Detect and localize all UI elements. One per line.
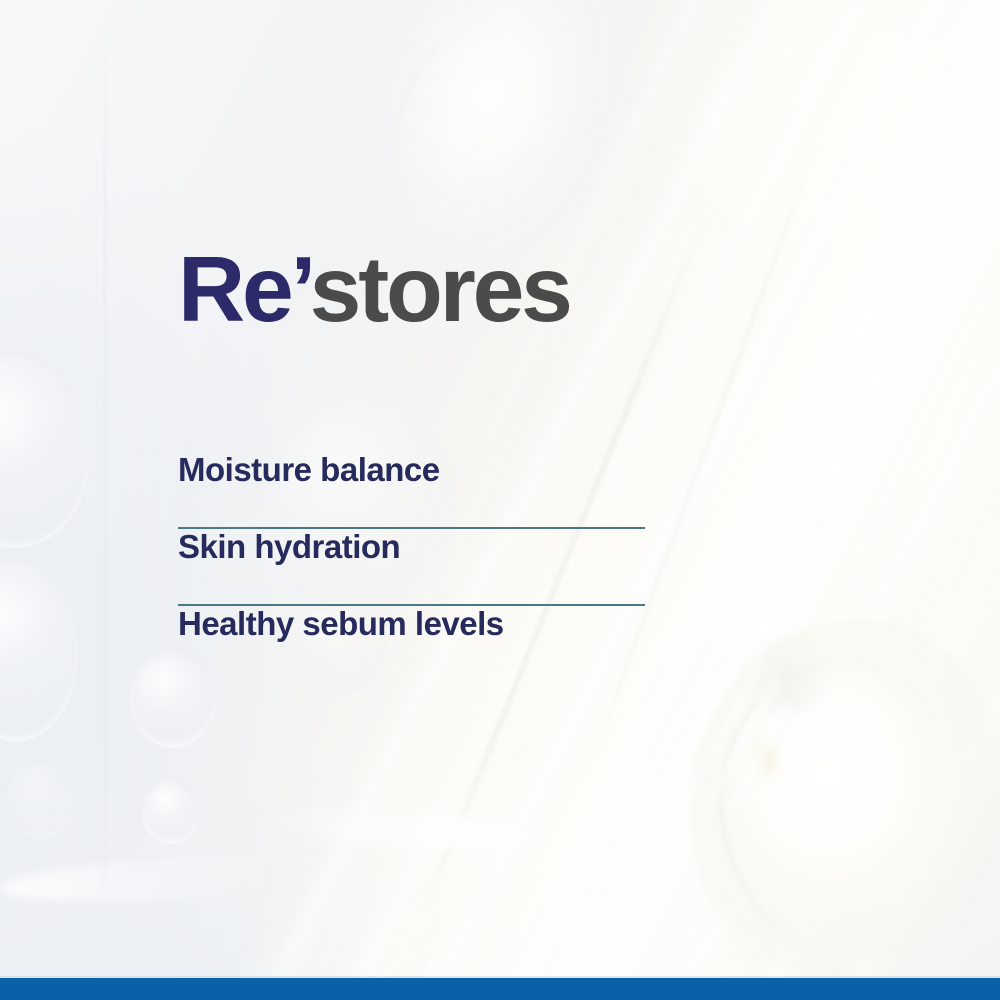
- list-item: Moisture balance: [178, 452, 645, 529]
- card-content: Re’stores Moisture balance Skin hydratio…: [178, 0, 878, 978]
- headline-rest: stores: [310, 237, 570, 341]
- product-benefit-card: Re’stores Moisture balance Skin hydratio…: [0, 0, 1000, 1000]
- benefits-list: Moisture balance Skin hydration Healthy …: [178, 452, 645, 683]
- page-title: Re’stores: [178, 243, 570, 336]
- water-droplet: [6, 760, 76, 838]
- background-seam-line: [104, 0, 106, 978]
- benefit-label: Healthy sebum levels: [178, 606, 504, 642]
- brand-bar: [0, 978, 1000, 1000]
- benefit-label: Moisture balance: [178, 452, 440, 488]
- benefit-label: Skin hydration: [178, 529, 400, 565]
- list-item: Skin hydration: [178, 529, 645, 606]
- headline-accent: Re’: [178, 237, 310, 341]
- list-item: Healthy sebum levels: [178, 606, 645, 683]
